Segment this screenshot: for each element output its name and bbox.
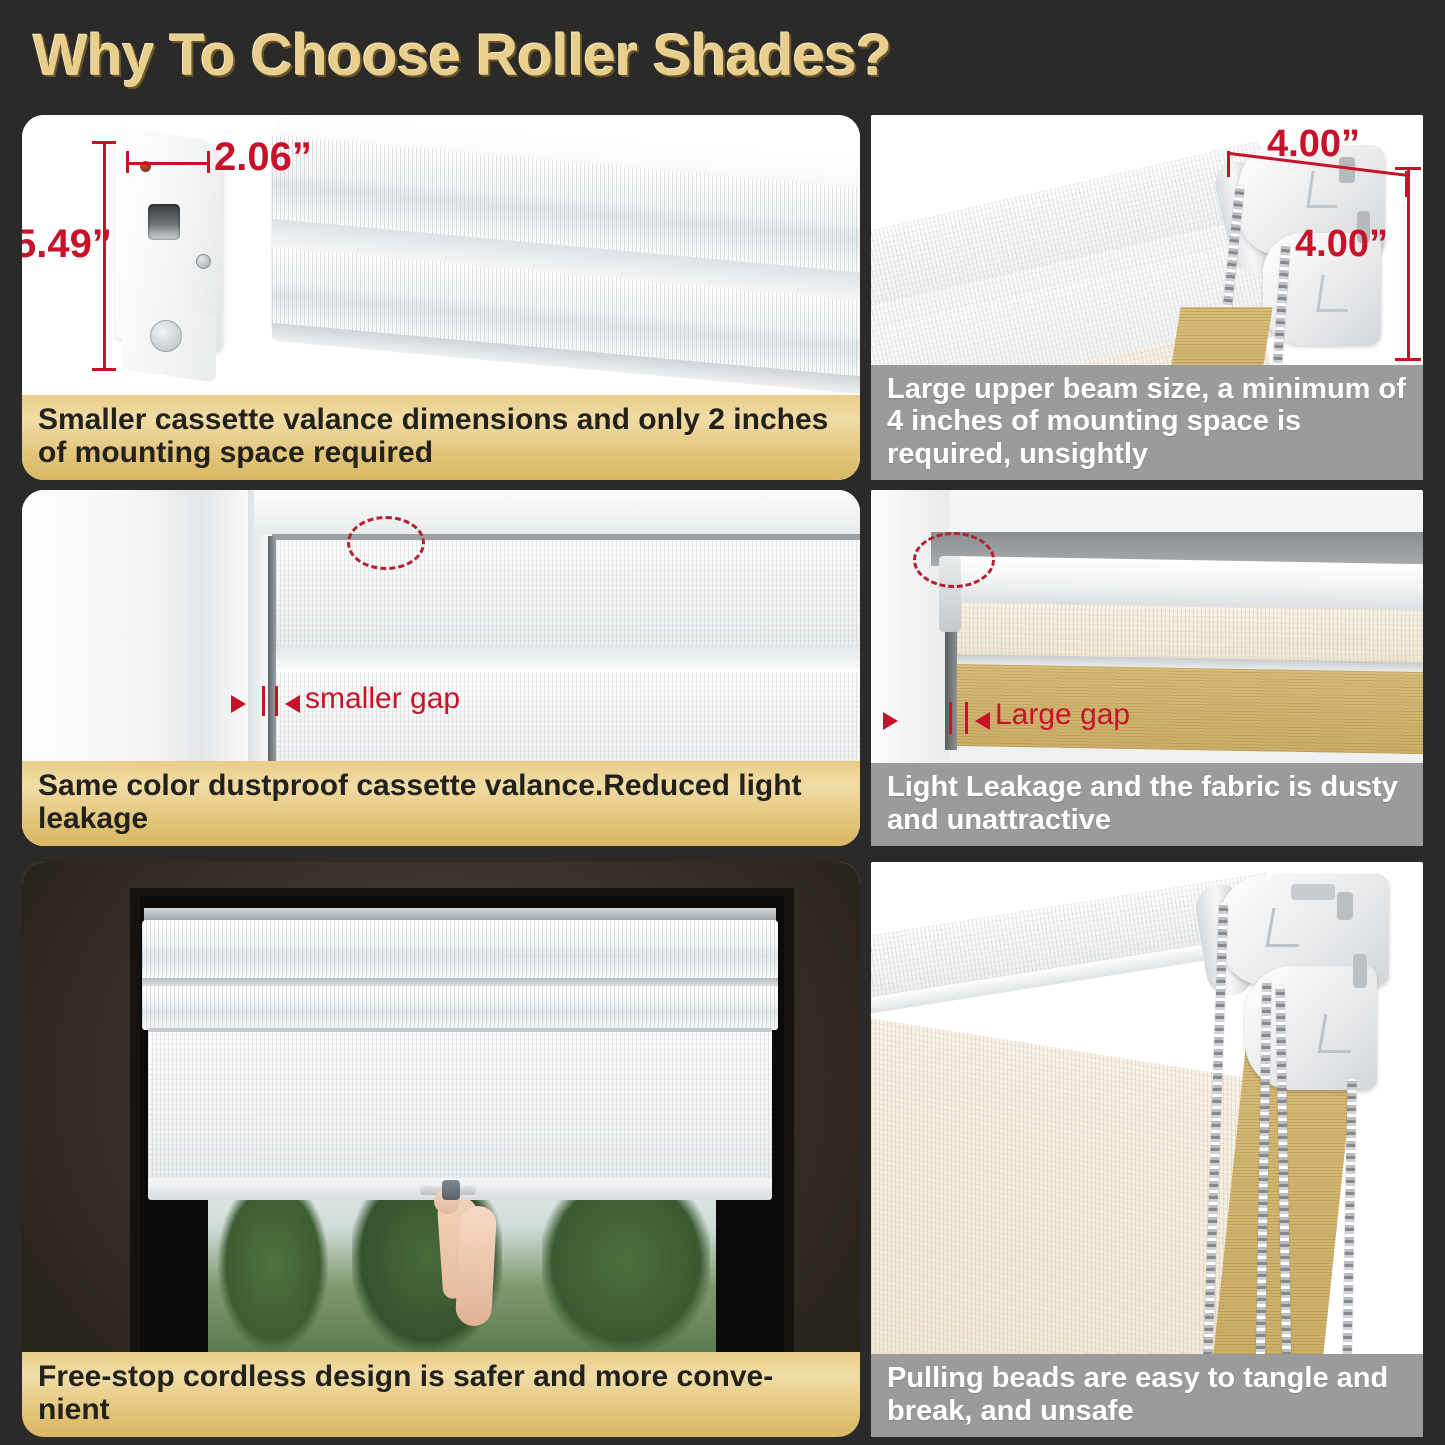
caption-top-left: Smaller cassette valance dimensions and … (22, 395, 860, 480)
panel-middle-left: smaller gap Same color dustproof cassett… (22, 490, 860, 846)
dimension-label-height-tl: 5.49” (22, 222, 112, 267)
caption-middle-left: Same color dustproof cassette valance.Re… (22, 761, 860, 846)
dimension-label-width-tr: 4.00” (1267, 123, 1360, 166)
panel-top-left: 2.06” 5.49” Smaller cassette valance dim… (22, 115, 860, 480)
panel-bottom-right-image (871, 862, 1423, 1437)
panel-bottom-right: Pulling beads are easy to tangle and bre… (871, 862, 1423, 1437)
panel-top-right: 4.00” 4.00” Large upper beam size, a min… (871, 115, 1423, 480)
bracket-slot-icon (148, 204, 180, 240)
dimension-label-height-tr: 4.00” (1295, 223, 1388, 266)
cassette-valance (142, 920, 778, 982)
panel-middle-right: Large gap Light Leakage and the fabric i… (871, 490, 1423, 846)
comparison-grid: 2.06” 5.49” Smaller cassette valance dim… (0, 106, 1445, 1445)
highlight-circle (347, 516, 425, 570)
gap-arrow-right (975, 712, 990, 730)
gap-arrow-right (285, 695, 300, 713)
caption-middle-right: Light Leakage and the fabric is dusty an… (871, 763, 1423, 846)
caption-bottom-left: Free-stop cordless design is safer and m… (22, 1352, 860, 1437)
panel-bottom-left-image (22, 862, 860, 1437)
panel-bottom-left: Free-stop cordless design is safer and m… (22, 862, 860, 1437)
page-title: Why To Choose Roller Shades? (33, 22, 1413, 92)
gap-arrow-left (231, 695, 246, 713)
highlight-circle (913, 532, 995, 588)
screw-icon-2 (196, 254, 211, 269)
dimension-label-width-tl: 2.06” (214, 135, 312, 180)
caption-top-right: Large upper beam size, a minimum of 4 in… (871, 365, 1423, 480)
pin-icon (150, 320, 182, 352)
gap-label-mr: Large gap (995, 698, 1130, 732)
shade-fabric (148, 1030, 772, 1180)
gap-label-ml: smaller gap (305, 682, 460, 716)
gap-arrow-left (883, 712, 898, 730)
caption-bottom-right: Pulling beads are easy to tangle and bre… (871, 1354, 1423, 1437)
